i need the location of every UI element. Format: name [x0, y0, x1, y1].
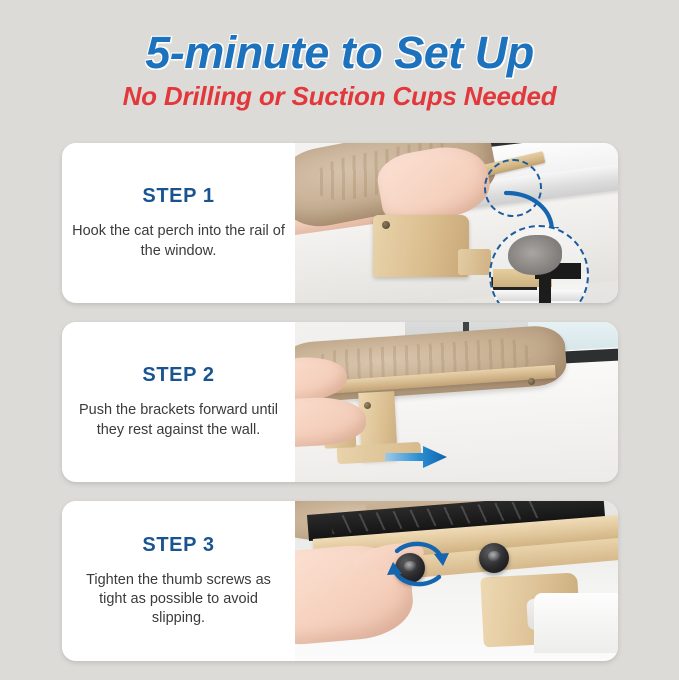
step-3-label: STEP 3	[142, 534, 214, 557]
rotation-arrows-icon	[379, 537, 457, 591]
screw-right	[528, 378, 535, 385]
step-1-description: Hook the cat perch into the rail of the …	[72, 222, 285, 261]
page-title: 5-minute to Set Up	[0, 30, 679, 75]
step-1-illustration	[295, 143, 618, 303]
step-card-3: STEP 3 Tighten the thumb screws as tight…	[62, 501, 618, 661]
step-2-photo	[295, 322, 618, 482]
step-3-illustration	[295, 501, 618, 661]
step-2-label: STEP 2	[142, 364, 214, 387]
step-1-photo	[295, 143, 618, 303]
steps-list: STEP 1 Hook the cat perch into the rail …	[62, 143, 618, 680]
step-card-2: STEP 2 Push the brackets forward until t…	[62, 322, 618, 482]
step-2-illustration	[295, 322, 618, 482]
window-sill	[534, 593, 618, 653]
inset-cat-fur	[508, 235, 562, 275]
step-1-label: STEP 1	[142, 185, 214, 208]
step-3-text-block: STEP 3 Tighten the thumb screws as tight…	[62, 501, 295, 661]
header-block: 5-minute to Set Up No Drilling or Suctio…	[0, 0, 679, 109]
forward-arrow-icon	[385, 444, 449, 470]
step-3-photo	[295, 501, 618, 661]
page-subtitle: No Drilling or Suction Cups Needed	[0, 83, 679, 109]
step-2-description: Push the brackets forward until they res…	[72, 401, 285, 440]
step-1-text-block: STEP 1 Hook the cat perch into the rail …	[62, 143, 295, 303]
thumb-screw-right	[479, 543, 509, 573]
step-card-1: STEP 1 Hook the cat perch into the rail …	[62, 143, 618, 303]
infographic-page: 5-minute to Set Up No Drilling or Suctio…	[0, 0, 679, 679]
step-2-text-block: STEP 2 Push the brackets forward until t…	[62, 322, 295, 482]
step-3-description: Tighten the thumb screws as tight as pos…	[72, 571, 285, 629]
